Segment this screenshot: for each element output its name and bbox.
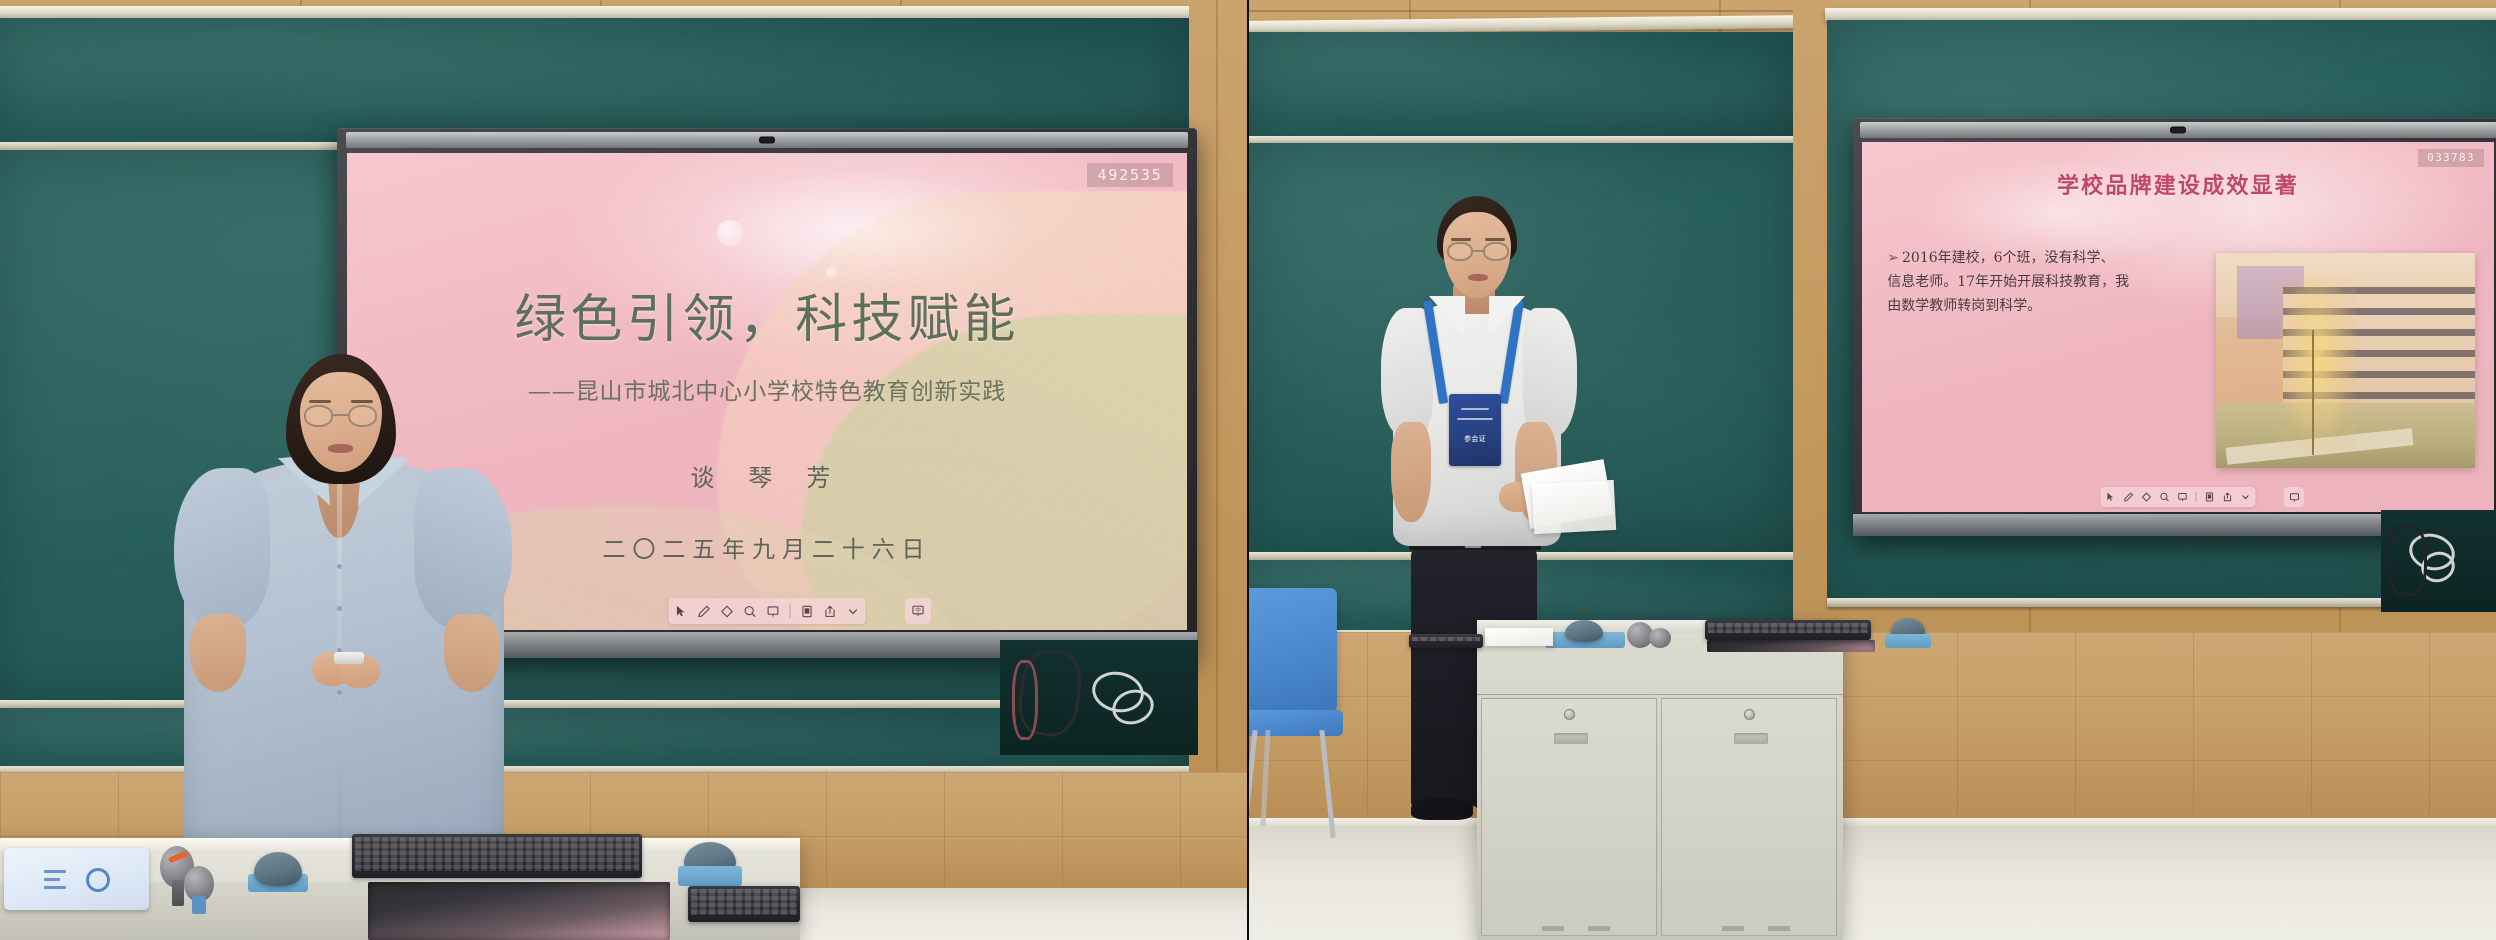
slide-photo-building: [2216, 253, 2475, 468]
keyboard-right[interactable]: [1705, 620, 1871, 640]
mousepad-right-secondary: [1885, 634, 1931, 648]
dual-camera-stage: 绿色引领，科技赋能 ——昆山市城北中心小学校特色教育创新实践 谈 琴 芳 二〇二…: [0, 0, 2496, 940]
bullet-glyph: ➢: [1887, 250, 1899, 266]
notes-icon[interactable]: [801, 598, 814, 624]
slide-toolbar-right[interactable]: [2101, 487, 2256, 507]
chair-back: [1249, 588, 1337, 718]
forearm-left: [190, 614, 246, 692]
chalkboard-upper-right-a: [1249, 32, 1793, 140]
slide-toolbar-left[interactable]: [669, 598, 866, 624]
spotlight-icon[interactable]: [767, 598, 780, 624]
pen-icon-right[interactable]: [2124, 487, 2134, 507]
display-topbar-right: [1860, 122, 2496, 138]
forearm-right: [444, 614, 500, 692]
tablet[interactable]: [4, 848, 149, 910]
magnifier-icon-right[interactable]: [2160, 487, 2170, 507]
keyboard-right-far[interactable]: [1409, 634, 1483, 648]
sleeve-left: [174, 468, 270, 628]
desk-monitor-left[interactable]: [368, 882, 670, 940]
slide-body-line-2: 信息老师。17年开始开展科技教育，我: [1887, 270, 2216, 294]
camera-panel-right: 学校品牌建设成效显著 ➢2016年建校，6个班，没有科学、 信息老师。17年开始…: [1249, 0, 2496, 940]
slide-body-line-3: 由数学教师转岗到科学。: [1887, 294, 2216, 318]
papers-held-second: [1532, 480, 1617, 534]
desk-monitor-right: [1707, 640, 1875, 652]
forearm-left-m: [1391, 422, 1431, 522]
display-camera-icon-right: [2170, 127, 2186, 134]
chair-blue[interactable]: [1249, 588, 1353, 850]
presentation-clicker[interactable]: [334, 652, 364, 664]
display-camera-icon: [759, 137, 775, 144]
slide-content: 学校品牌建设成效显著 ➢2016年建校，6个班，没有科学、 信息老师。17年开始…: [1862, 142, 2494, 512]
camera-panel-left: 绿色引领，科技赋能 ——昆山市城北中心小学校特色教育创新实践 谈 琴 芳 二〇二…: [0, 0, 1247, 940]
magnifier-icon[interactable]: [744, 598, 757, 624]
mouse-left[interactable]: [254, 852, 302, 886]
cabinet-podium[interactable]: [1477, 620, 1843, 940]
mousepad-left-secondary: [678, 866, 742, 886]
sleeve-right: [414, 468, 512, 628]
keyboard-left[interactable]: [352, 834, 642, 878]
cabinet-lock-right[interactable]: [1744, 709, 1755, 720]
panel-divider: [1247, 0, 1249, 940]
collar-right-m: [1489, 296, 1525, 336]
pen-icon[interactable]: [698, 598, 711, 624]
cabinet-lock-left[interactable]: [1564, 709, 1575, 720]
cabinet-handle-left[interactable]: [1554, 733, 1588, 744]
cabinet-door-left[interactable]: [1481, 698, 1657, 936]
eraser-icon[interactable]: [721, 598, 734, 624]
slide-title-right: 学校品牌建设成效显著: [1862, 168, 2494, 200]
export-icon-right[interactable]: [2223, 487, 2233, 507]
display-topbar: [346, 132, 1189, 148]
interactive-display-right[interactable]: 学校品牌建设成效显著 ➢2016年建校，6个班，没有科学、 信息老师。17年开始…: [1853, 118, 2496, 536]
mouth: [328, 444, 353, 453]
cable-loop-right-c: [2387, 524, 2427, 596]
sleeve-left-m: [1381, 308, 1433, 436]
ime-icon[interactable]: 中: [905, 598, 931, 624]
floor-right: [1249, 826, 2496, 940]
eraser-icon-right[interactable]: [2142, 487, 2152, 507]
leg-left: [1411, 546, 1475, 808]
export-icon[interactable]: [824, 598, 837, 624]
ime-icon-right[interactable]: [2284, 487, 2304, 507]
svg-text:中: 中: [915, 606, 921, 614]
sleeve-right-m: [1523, 308, 1577, 436]
display-screen-right[interactable]: 学校品牌建设成效显著 ➢2016年建校，6个班，没有科学、 信息老师。17年开始…: [1862, 142, 2494, 512]
slide-title-left: 绿色引领，科技赋能: [347, 277, 1187, 352]
cable-loop-d: [1012, 660, 1038, 740]
screen-watermark-left: 492535: [1087, 163, 1173, 187]
cursor-arrow-icon-right[interactable]: [2106, 487, 2116, 507]
slide-body-right: ➢2016年建校，6个班，没有科学、 信息老师。17年开始开展科技教育，我 由数…: [1887, 246, 2216, 318]
chalkboard-upper-left: [0, 18, 1189, 146]
mouth-m: [1468, 274, 1488, 281]
toolbar-separator: [790, 604, 791, 618]
chevron-down-icon-right[interactable]: [2241, 487, 2251, 507]
presenter-left: [176, 352, 512, 872]
keyboard-left-secondary[interactable]: [688, 886, 800, 922]
chevron-down-icon[interactable]: [847, 598, 860, 624]
collar-left-m: [1429, 296, 1465, 336]
toolbar-separator-right: [2196, 492, 2197, 502]
cabinet-handle-right[interactable]: [1734, 733, 1768, 744]
badge: 参会证: [1449, 394, 1501, 466]
chair-seat: [1249, 710, 1343, 736]
papers-on-cabinet: [1485, 628, 1553, 646]
mouse-right[interactable]: [1565, 620, 1603, 642]
notes-icon-right[interactable]: [2205, 487, 2215, 507]
cabinet-door-right[interactable]: [1661, 698, 1837, 936]
slide-body-line-1: 2016年建校，6个班，没有科学、: [1902, 250, 2115, 266]
cursor-arrow-icon[interactable]: [675, 598, 688, 624]
screen-watermark-right: 033783: [2418, 149, 2484, 167]
shoe-left: [1411, 798, 1473, 820]
spotlight-icon-right[interactable]: [2178, 487, 2188, 507]
